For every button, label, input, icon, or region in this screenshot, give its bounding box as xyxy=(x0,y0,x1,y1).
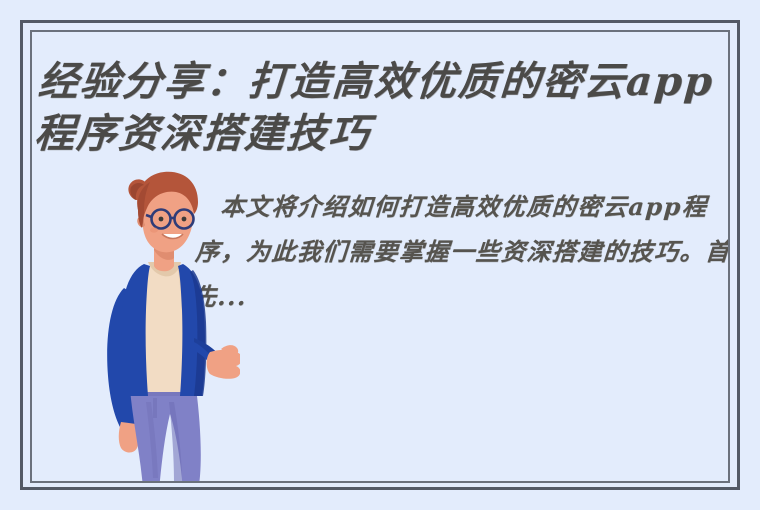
cheek-blush xyxy=(150,227,158,232)
poster-content: 经验分享：打造高效优质的密云app程序资深搭建技巧 本文将介绍如何打造高效优质的… xyxy=(32,32,728,481)
trousers-fly xyxy=(153,398,157,418)
poster-title: 经验分享：打造高效优质的密云app程序资深搭建技巧 xyxy=(33,56,728,160)
poster-canvas: 经验分享：打造高效优质的密云app程序资深搭建技巧 本文将介绍如何打造高效优质的… xyxy=(0,0,760,510)
poster-body-text: 本文将介绍如何打造高效优质的密云app程序，为此我们需要掌握一些资深搭建的技巧。… xyxy=(191,184,728,319)
eye-left xyxy=(159,217,164,222)
trousers xyxy=(130,388,201,481)
eye-right xyxy=(182,217,187,222)
illustration-person xyxy=(90,170,240,481)
